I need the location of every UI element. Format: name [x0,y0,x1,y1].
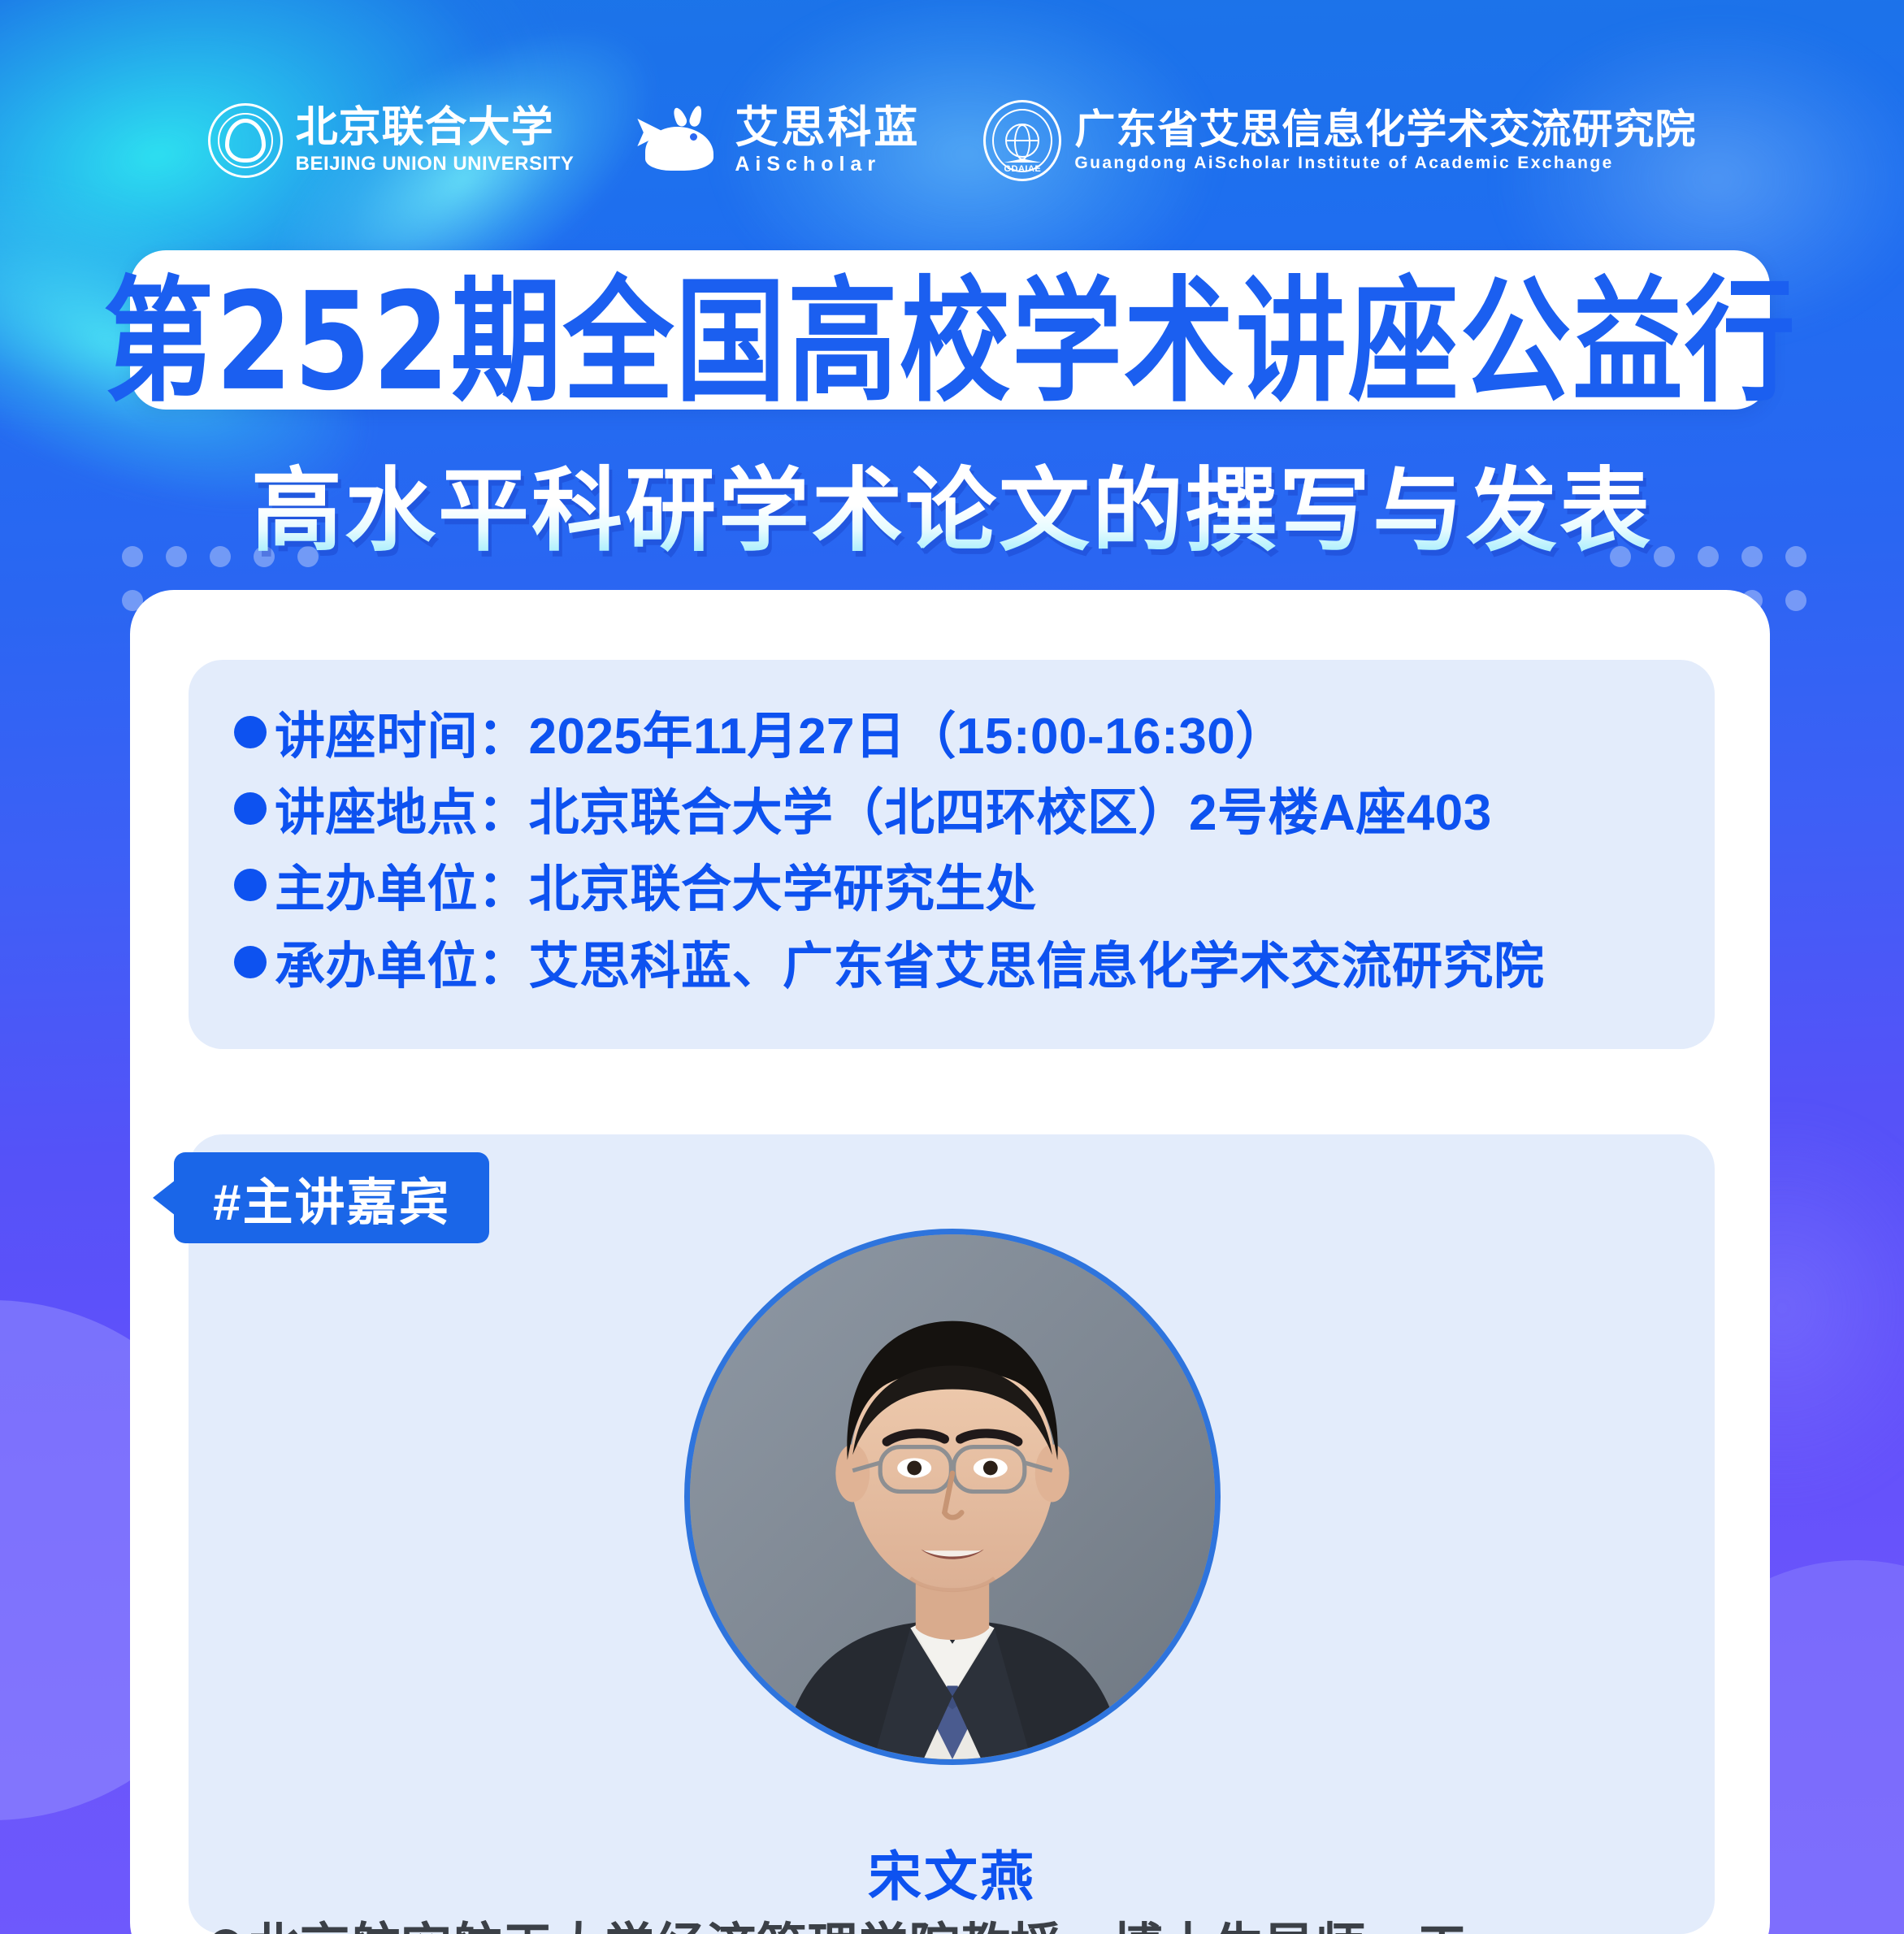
bullet-icon [210,1929,242,1934]
logo-en-label: BEIJING UNION UNIVERSITY [296,153,575,176]
poster-root: 北京联合大学 BEIJING UNION UNIVERSITY 艾思科蓝 AiS… [0,0,1904,1934]
logo-bar: 北京联合大学 BEIJING UNION UNIVERSITY 艾思科蓝 AiS… [0,96,1904,185]
logo-gdaiae: GDAIAE 广东省艾思信息化学术交流研究院 Guangdong AiSchol… [983,100,1696,181]
guest-speaker-tag: #主讲嘉宾 [174,1152,489,1243]
bullet-icon [234,869,267,901]
speaker-bio: 北京航空航天大学经济管理学院教授、博士生导师、工 [210,1911,1694,1934]
logo-aischolar: 艾思科蓝 AiScholar [637,105,920,176]
info-value: 北京联合大学研究生处 [529,852,1037,928]
logo-en-label: AiScholar [735,153,920,176]
logo-text-group: 艾思科蓝 AiScholar [735,105,920,176]
info-value: 北京联合大学（北四环校区）2号楼A座403 [529,775,1492,852]
logo-beijing-union-university: 北京联合大学 BEIJING UNION UNIVERSITY [208,103,575,178]
beijing-union-university-seal-icon [208,103,283,178]
logo-cn-label: 艾思科蓝 [735,105,920,150]
info-label: 讲座时间： [275,699,529,775]
page-title: 第252期全国高校学术讲座公益行 [103,232,1797,427]
guest-speaker-tag-label: #主讲嘉宾 [213,1161,450,1234]
info-row-co-organizer: 承办单位： 艾思科蓝、广东省艾思信息化学术交流研究院 [234,929,1669,1005]
page-subtitle: 高水平科研学术论文的撰写与发表 [0,437,1904,569]
speaker-name: 宋文燕 [0,1833,1904,1911]
info-value: 2025年11月27日（15:00-16:30） [529,699,1286,775]
speaker-portrait-illustration [690,1234,1215,1759]
logo-text-group: 北京联合大学 BEIJING UNION UNIVERSITY [296,106,575,175]
info-value: 艾思科蓝、广东省艾思信息化学术交流研究院 [529,929,1545,1005]
globe-seal-text: GDAIAE [1004,164,1041,174]
logo-cn-label: 广东省艾思信息化学术交流研究院 [1074,108,1696,150]
logo-text-group: 广东省艾思信息化学术交流研究院 Guangdong AiScholar Inst… [1074,108,1696,173]
globe-seal-icon: GDAIAE [983,100,1061,181]
bullet-icon [234,792,267,825]
info-row-time: 讲座时间： 2025年11月27日（15:00-16:30） [234,699,1669,775]
logo-cn-label: 北京联合大学 [296,106,575,150]
info-label: 讲座地点： [275,775,529,852]
bullet-icon [234,716,267,748]
bullet-icon [234,946,267,978]
lecture-info-panel: 讲座时间： 2025年11月27日（15:00-16:30） 讲座地点： 北京联… [189,660,1715,1049]
speaker-avatar [684,1229,1221,1765]
page-title-pill: 第252期全国高校学术讲座公益行 [130,250,1770,410]
logo-en-label: Guangdong AiScholar Institute of Academi… [1074,154,1696,173]
info-label: 承办单位： [275,929,529,1005]
info-row-organizer: 主办单位： 北京联合大学研究生处 [234,852,1669,928]
info-row-location: 讲座地点： 北京联合大学（北四环校区）2号楼A座403 [234,775,1669,852]
info-label: 主办单位： [275,852,529,928]
speaker-bio-text: 北京航空航天大学经济管理学院教授、博士生导师、工 [249,1911,1468,1934]
whale-icon [637,106,722,176]
